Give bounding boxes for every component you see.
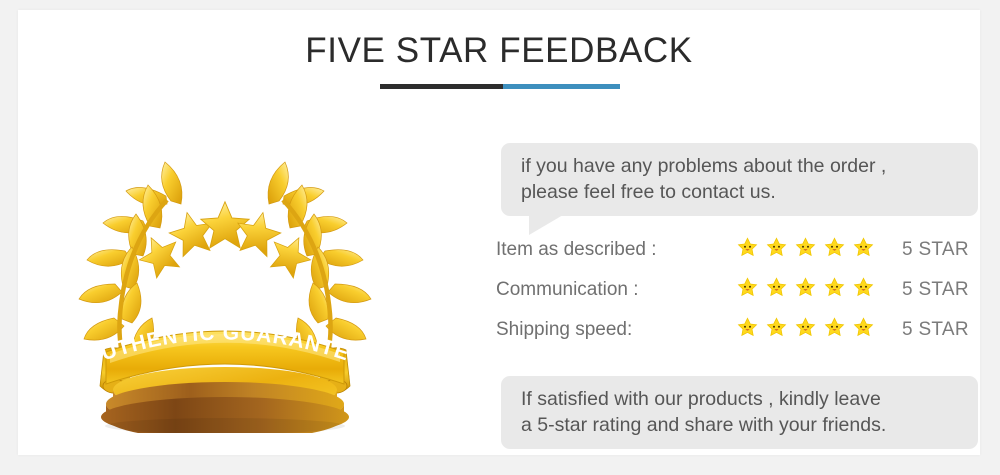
star-icon	[852, 276, 875, 299]
rating-row-item-as-described: Item as described : 5 STAR	[496, 233, 980, 273]
contact-message-line-1: if you have any problems about the order…	[521, 153, 962, 179]
rating-row-shipping-speed: Shipping speed: 5 STAR	[496, 313, 980, 353]
page-title: FIVE STAR FEEDBACK	[18, 32, 980, 71]
contact-message-bubble: if you have any problems about the order…	[501, 143, 978, 216]
star-icon	[794, 236, 817, 259]
star-icon	[736, 316, 759, 339]
rating-value: 5 STAR	[902, 319, 969, 341]
satisfaction-message-bubble: If satisfied with our products , kindly …	[501, 376, 978, 449]
star-icon	[823, 276, 846, 299]
title-underline-blue-segment	[503, 84, 620, 89]
rating-stars	[736, 316, 875, 339]
authentic-guarantee-badge: AUTHENTIC GUARANTEE	[70, 138, 380, 433]
star-icon	[852, 236, 875, 259]
star-icon	[736, 276, 759, 299]
star-icon	[736, 236, 759, 259]
star-icon	[794, 276, 817, 299]
contact-message-line-2: please feel free to contact us.	[521, 179, 962, 205]
rating-value: 5 STAR	[902, 279, 969, 301]
star-icon	[765, 236, 788, 259]
rating-stars	[736, 276, 875, 299]
star-icon	[765, 316, 788, 339]
satisfaction-message-line-2: a 5-star rating and share with your frie…	[521, 412, 962, 438]
rating-label: Item as described :	[496, 239, 657, 261]
star-icon	[794, 316, 817, 339]
speech-bubble-tail	[529, 215, 563, 235]
feedback-card: FIVE STAR FEEDBACK	[18, 10, 980, 455]
emblem-star-4	[232, 208, 284, 259]
rating-stars	[736, 236, 875, 259]
satisfaction-message-line-1: If satisfied with our products , kindly …	[521, 386, 962, 412]
star-icon	[852, 316, 875, 339]
rating-row-communication: Communication : 5 STAR	[496, 273, 980, 313]
star-icon	[823, 316, 846, 339]
emblem-star-2	[166, 208, 218, 259]
star-icon	[765, 276, 788, 299]
rating-label: Communication :	[496, 279, 639, 301]
rating-list: Item as described : 5 STAR Communication…	[496, 233, 980, 353]
title-underline-dark-segment	[380, 84, 503, 89]
feedback-banner: FIVE STAR FEEDBACK	[0, 0, 1000, 475]
page-title-block: FIVE STAR FEEDBACK	[18, 32, 980, 71]
rating-label: Shipping speed:	[496, 319, 632, 341]
feedback-content: if you have any problems about the order…	[483, 135, 980, 445]
rating-value: 5 STAR	[902, 239, 969, 261]
star-icon	[823, 236, 846, 259]
title-underline	[380, 84, 620, 89]
